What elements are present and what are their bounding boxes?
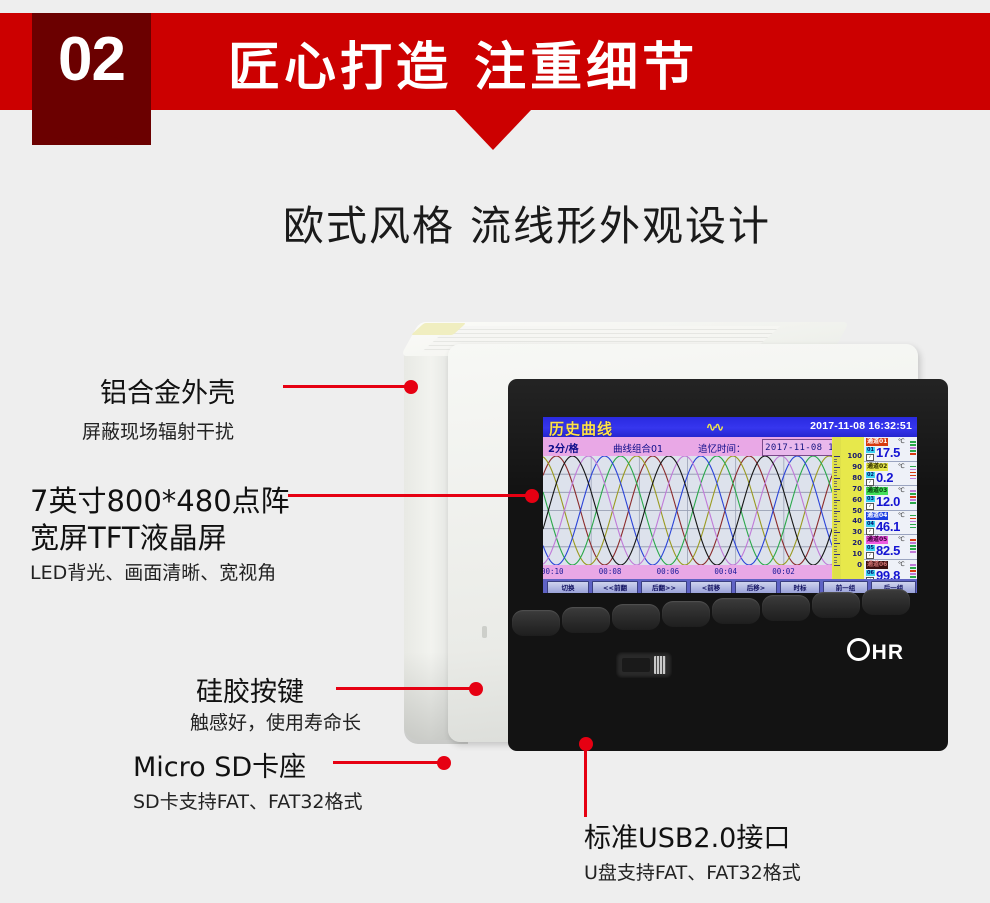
lcd-screen[interactable]: 历史曲线 ∿∿ 2017-11-08 16:32:51 2分/格 曲线组合01 … <box>543 417 917 593</box>
channel-number: 06 <box>866 570 875 576</box>
callout-1-sub: 屏蔽现场辐射干扰 <box>82 417 234 444</box>
channel-bargraph <box>910 515 916 531</box>
scale-minor-tick <box>834 500 837 501</box>
scale-label-20: 20 <box>852 539 862 547</box>
scale-label-30: 30 <box>852 528 862 536</box>
value-scale-bar: 0102030405060708090100 <box>832 437 864 579</box>
channel-row[interactable]: 通道01℃01✓17.5 <box>864 437 917 462</box>
channel-bargraph <box>910 539 916 555</box>
channel-list[interactable]: 通道01℃01✓17.5通道02℃02✓0.2通道03℃03✓12.0通道04℃… <box>864 437 917 579</box>
channel-value: 46.1 <box>876 519 900 534</box>
scale-minor-tick <box>834 472 837 473</box>
scale-minor-tick <box>834 562 837 563</box>
device-front-housing: 历史曲线 ∿∿ 2017-11-08 16:32:51 2分/格 曲线组合01 … <box>448 344 918 742</box>
channel-bargraph <box>910 490 916 506</box>
scale-label-60: 60 <box>852 496 862 504</box>
scale-label-80: 80 <box>852 474 862 482</box>
key-1[interactable] <box>512 610 560 636</box>
scale-minor-tick <box>834 481 837 482</box>
micro-sd-slot[interactable] <box>482 626 487 638</box>
time-tick-3: 00:04 <box>714 567 737 576</box>
callout-3-dot <box>469 682 483 696</box>
callout-1-leader <box>283 385 411 388</box>
brand-logo-o <box>847 638 870 661</box>
callout-2-sub: LED背光、画面清晰、宽视角 <box>30 558 276 585</box>
callout-3-sub: 触感好，使用寿命长 <box>190 708 361 735</box>
scale-label-90: 90 <box>852 463 862 471</box>
scale-minor-tick <box>834 508 837 509</box>
page-root: 02 匠心打造 注重细节 欧式风格 流线形外观设计 历史曲线 ∿∿ 2017-1… <box>0 0 990 903</box>
scale-minor-tick <box>834 560 837 561</box>
channel-checkbox[interactable]: ✓ <box>866 479 874 486</box>
callout-2-title2: 宽屏TFT液晶屏 <box>30 515 227 557</box>
time-tick-2: 00:06 <box>657 567 680 576</box>
channel-value: 82.5 <box>876 543 900 558</box>
channel-unit: ℃ <box>898 512 905 519</box>
scale-minor-tick <box>834 516 837 517</box>
usb-port-pins <box>654 656 666 674</box>
scale-minor-tick <box>834 532 837 533</box>
channel-number: 05 <box>866 545 875 551</box>
usb-port[interactable] <box>616 652 672 678</box>
channel-number: 01 <box>866 447 875 453</box>
channel-value: 12.0 <box>876 494 900 509</box>
scale-minor-tick <box>834 546 837 547</box>
screen-infobar: 2分/格 曲线组合01 追忆时间： 2017-11-08 16:32:30 <box>543 437 832 456</box>
scale-minor-tick <box>834 554 837 555</box>
scale-minor-tick <box>834 519 837 520</box>
callout-5-dot <box>579 737 593 751</box>
scale-minor-tick <box>834 489 837 490</box>
callout-1-dot <box>404 380 418 394</box>
screen-button-<前移[interactable]: <前移 <box>690 581 732 594</box>
scale-label-50: 50 <box>852 507 862 515</box>
screen-button-时标[interactable]: 时标 <box>780 581 820 594</box>
callout-3-title: 硅胶按键 <box>196 670 304 709</box>
scale-minor-tick <box>834 551 837 552</box>
scale-label-100: 100 <box>847 452 862 460</box>
channel-value: 0.2 <box>876 470 893 485</box>
scale-minor-tick <box>834 524 837 525</box>
scale-minor-tick <box>834 557 837 558</box>
brand-logo-text: HR <box>872 641 904 664</box>
callout-2-title: 7英寸800*480点阵 <box>30 478 290 520</box>
channel-row[interactable]: 通道05℃05✓82.5 <box>864 535 917 560</box>
recall-time-label: 追忆时间： <box>698 441 746 455</box>
curve-group-label: 曲线组合01 <box>613 441 663 455</box>
channel-number: 02 <box>866 472 875 478</box>
scale-minor-tick <box>834 530 837 531</box>
screen-button-切换[interactable]: 切换 <box>547 581 589 594</box>
header-notch <box>455 110 531 150</box>
scale-minor-tick <box>834 502 837 503</box>
scale-minor-tick <box>834 464 837 465</box>
time-axis: 00:1000:0800:0600:0400:02 <box>543 565 832 579</box>
channel-checkbox[interactable]: ✓ <box>866 528 874 535</box>
scale-minor-tick <box>834 513 837 514</box>
channel-unit: ℃ <box>898 463 905 470</box>
key-6[interactable] <box>762 595 810 621</box>
key-5[interactable] <box>712 598 760 624</box>
scale-label-10: 10 <box>852 550 862 558</box>
channel-checkbox[interactable]: ✓ <box>866 454 874 461</box>
usb-port-inner <box>622 658 650 672</box>
callout-2-leader <box>288 494 532 497</box>
scale-minor-tick <box>834 470 837 471</box>
scale-minor-tick <box>834 527 837 528</box>
key-7[interactable] <box>812 592 860 618</box>
key-3[interactable] <box>612 604 660 630</box>
channel-row[interactable]: 通道03℃03✓12.0 <box>864 486 917 511</box>
section-number: 02 <box>32 13 151 105</box>
channel-unit: ℃ <box>898 487 905 494</box>
screen-datetime: 2017-11-08 16:32:51 <box>810 420 912 432</box>
scale-minor-tick <box>834 538 837 539</box>
key-8[interactable] <box>862 589 910 615</box>
channel-row[interactable]: 通道04℃04✓46.1 <box>864 511 917 536</box>
header-title: 匠心打造 注重细节 <box>228 25 698 100</box>
channel-number: 04 <box>866 521 875 527</box>
channel-bargraph <box>910 466 916 482</box>
scale-minor-tick <box>834 535 837 536</box>
screen-title: 历史曲线 <box>549 418 613 439</box>
time-tick-4: 00:02 <box>772 567 795 576</box>
callout-4-dot <box>437 756 451 770</box>
scale-minor-tick <box>834 549 837 550</box>
callout-5-leader-v <box>584 747 587 817</box>
key-4[interactable] <box>662 601 710 627</box>
callout-3-leader <box>336 687 476 690</box>
scale-minor-tick <box>834 461 837 462</box>
scale-minor-tick <box>834 521 837 522</box>
brand-logo: HR <box>847 638 904 665</box>
channel-bargraph <box>910 564 916 580</box>
scale-label-40: 40 <box>852 517 862 525</box>
scale-minor-tick <box>834 456 837 457</box>
scale-label-70: 70 <box>852 485 862 493</box>
screen-button-bar: 切换<<前翻后翻>><前移后移>时标前一组后一组 <box>543 579 917 593</box>
page-subtitle: 欧式风格 流线形外观设计 <box>283 192 771 252</box>
scale-minor-tick <box>834 505 837 506</box>
scale-minor-tick <box>834 467 837 468</box>
curve-plot-svg <box>543 456 832 565</box>
scale-minor-tick <box>834 475 837 476</box>
scale-minor-tick <box>834 497 837 498</box>
scale-minor-tick <box>834 478 837 479</box>
scale-minor-tick <box>834 459 837 460</box>
channel-checkbox[interactable]: ✓ <box>866 552 874 559</box>
callout-4-title: Micro SD卡座 <box>133 745 306 784</box>
channel-checkbox[interactable]: ✓ <box>866 503 874 510</box>
screen-button-后移>[interactable]: 后移> <box>735 581 777 594</box>
channel-value: 17.5 <box>876 445 900 460</box>
time-tick-1: 00:08 <box>599 567 622 576</box>
channel-row[interactable]: 通道02℃02✓0.2 <box>864 462 917 487</box>
scale-minor-tick <box>834 491 837 492</box>
scale-minor-tick <box>834 494 837 495</box>
callout-2-dot <box>525 489 539 503</box>
scale-minor-tick <box>834 483 837 484</box>
channel-number: 03 <box>866 496 875 502</box>
channel-unit: ℃ <box>898 438 905 445</box>
scale-label-0: 0 <box>857 561 862 569</box>
time-tick-0: 00:10 <box>543 567 564 576</box>
callout-4-leader <box>333 761 443 764</box>
scale-minor-tick <box>834 486 837 487</box>
screen-titlebar: 历史曲线 ∿∿ 2017-11-08 16:32:51 <box>543 417 917 437</box>
screen-button-<<前翻[interactable]: <<前翻 <box>592 581 638 594</box>
scale-minor-tick <box>834 543 837 544</box>
waveform-icon: ∿∿ <box>706 420 722 434</box>
scale-minor-tick <box>834 540 837 541</box>
device-recorder: 历史曲线 ∿∿ 2017-11-08 16:32:51 2分/格 曲线组合01 … <box>404 322 924 762</box>
scale-minor-tick <box>834 511 837 512</box>
callout-5-title: 标准USB2.0接口 <box>584 816 790 855</box>
callout-4-sub: SD卡支持FAT、FAT32格式 <box>133 787 363 814</box>
screen-button-后翻>>[interactable]: 后翻>> <box>641 581 687 594</box>
callout-5-sub: U盘支持FAT、FAT32格式 <box>584 858 801 885</box>
channel-unit: ℃ <box>898 561 905 568</box>
time-per-division: 2分/格 <box>548 440 579 455</box>
key-2[interactable] <box>562 607 610 633</box>
callout-1-title: 铝合金外壳 <box>100 371 235 410</box>
channel-unit: ℃ <box>898 536 905 543</box>
channel-bargraph <box>910 441 916 457</box>
scale-minor-tick <box>834 565 837 566</box>
curve-plot-area[interactable] <box>543 456 832 565</box>
